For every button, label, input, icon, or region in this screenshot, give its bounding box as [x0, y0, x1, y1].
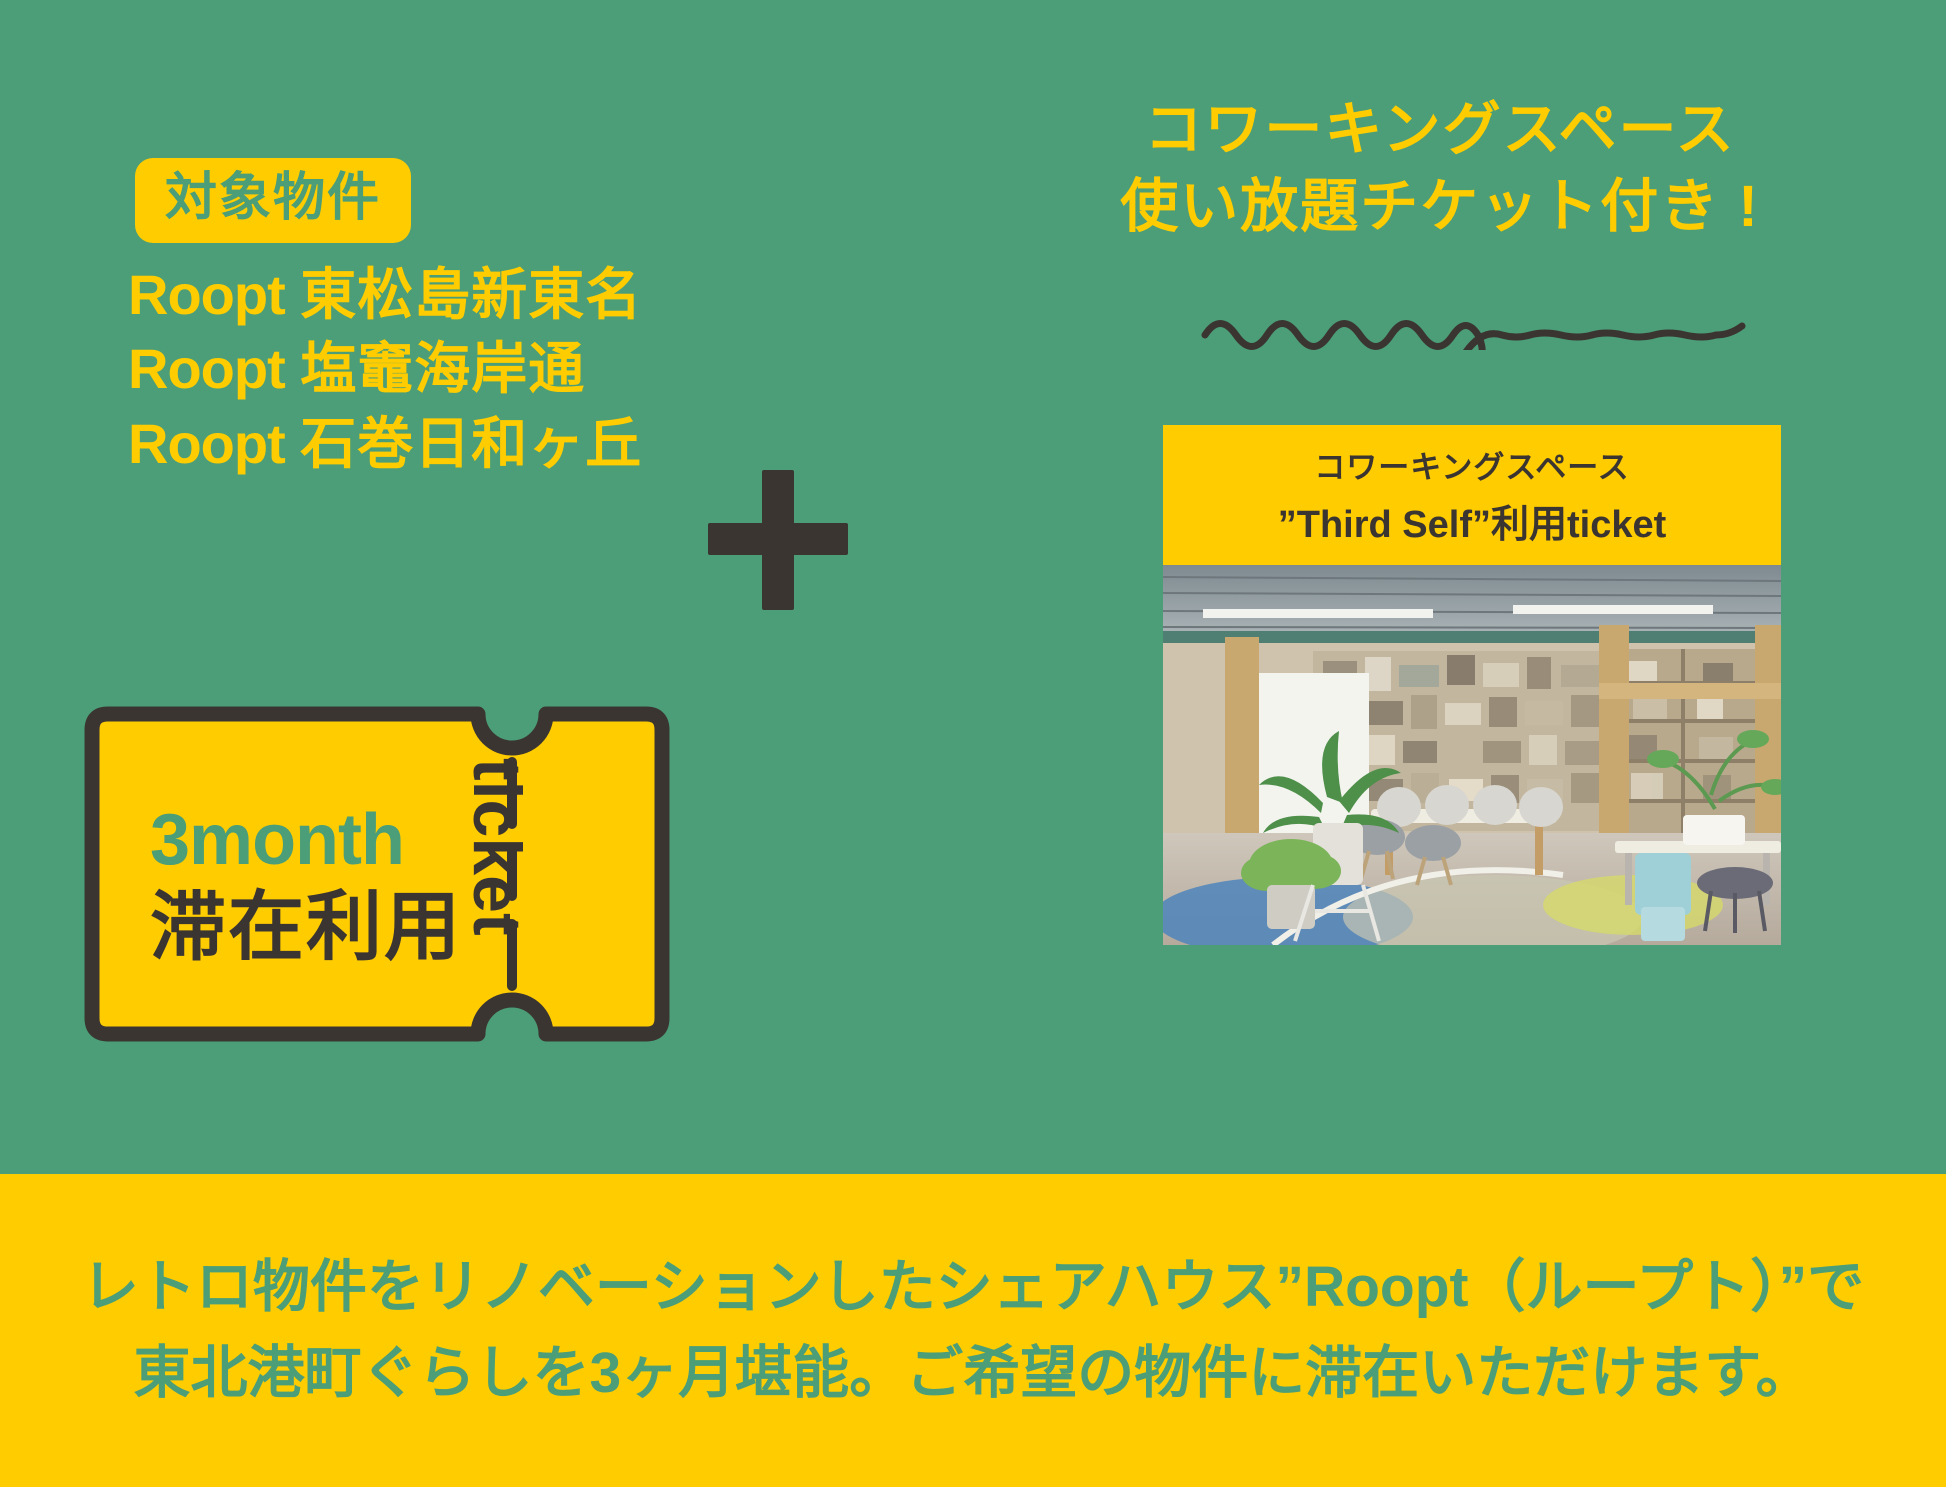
- property-place: 塩竈海岸通: [300, 337, 585, 400]
- banner-line-2: 東北港町ぐらしを3ヶ月堪能。ご希望の物件に滞在いただけます。: [134, 1341, 1813, 1407]
- list-item: Roopt 塩竈海岸通: [128, 332, 642, 406]
- coworking-space-photo: [1163, 565, 1781, 945]
- ticket-stub-label: ticket: [458, 758, 536, 998]
- bottom-description-banner: レトロ物件をリノベーションしたシェアハウス”Roopt（ループト）”で 東北港町…: [0, 1174, 1946, 1487]
- property-brand: Roopt: [128, 412, 285, 475]
- ticket-duration: 3month: [150, 804, 404, 876]
- property-place: 東松島新東名: [300, 263, 642, 326]
- list-item: Roopt 石巻日和ヶ丘: [128, 407, 642, 481]
- property-brand: Roopt: [128, 337, 285, 400]
- banner-line-1: レトロ物件をリノベーションしたシェアハウス”Roopt（ループト）”で: [82, 1255, 1864, 1321]
- coworking-headline: コワーキングスペース 使い放題チケット付き !: [960, 92, 1920, 245]
- coworking-headline-line1: コワーキングスペース: [960, 92, 1920, 169]
- target-property-badge: 対象物件: [135, 158, 411, 243]
- three-month-stay-ticket: 3month 滞在利用 ticket: [78, 700, 676, 1048]
- coworking-headline-line2: 使い放題チケット付き !: [960, 169, 1920, 246]
- coworking-card: コワーキングスペース ”Third Self”利用ticket: [1163, 425, 1781, 845]
- card-caption-line1: コワーキングスペース: [1314, 442, 1629, 487]
- property-list: Roopt 東松島新東名 Roopt 塩竈海岸通 Roopt 石巻日和ヶ丘: [128, 258, 642, 481]
- ticket-usage: 滞在利用: [150, 890, 462, 966]
- coworking-card-caption: コワーキングスペース ”Third Self”利用ticket: [1163, 425, 1781, 565]
- plus-icon: [708, 470, 848, 610]
- property-brand: Roopt: [128, 263, 285, 326]
- poster-canvas: 対象物件 Roopt 東松島新東名 Roopt 塩竈海岸通 Roopt 石巻日和…: [0, 0, 1946, 1487]
- wavy-divider-icon: [1150, 240, 1770, 350]
- card-caption-line2: ”Third Self”利用ticket: [1278, 493, 1667, 548]
- property-place: 石巻日和ヶ丘: [300, 412, 642, 475]
- list-item: Roopt 東松島新東名: [128, 258, 642, 332]
